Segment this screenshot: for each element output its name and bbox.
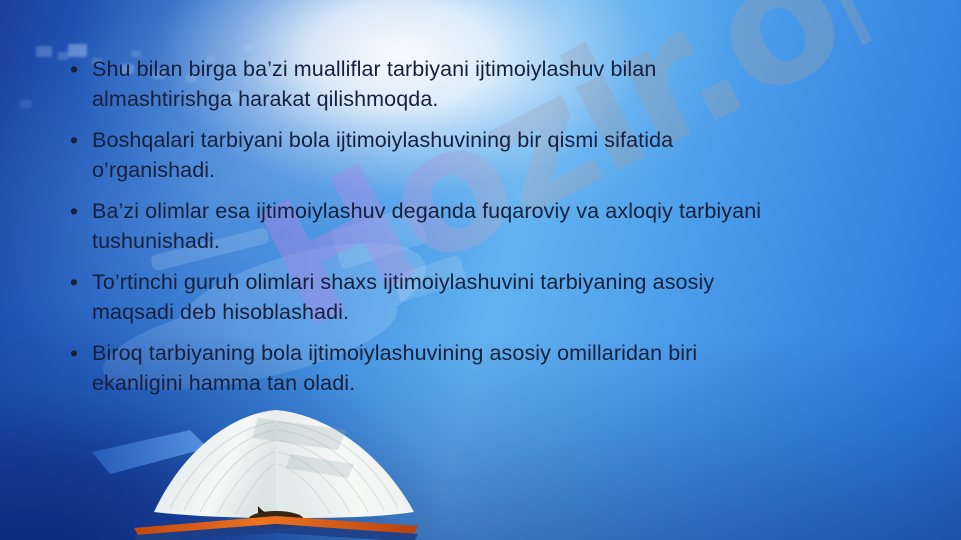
bullet-marker-icon: • [64, 267, 92, 297]
bullet-line: Ba’zi olimlar esa ijtimoiylashuv deganda… [92, 199, 761, 223]
bullet-line: o’rganishadi. [92, 158, 215, 182]
bullet-marker-icon: • [64, 125, 92, 155]
bullet-text: To’rtinchi guruh olimlari shaxs ijtimoiy… [92, 267, 904, 327]
bullet-line: maqsadi deb hisoblashadi. [92, 300, 349, 324]
open-book-illustration [62, 394, 492, 540]
bullet-text: Ba’zi olimlar esa ijtimoiylashuv deganda… [92, 196, 904, 256]
bullet-line: Boshqalari tarbiyani bola ijtimoiylashuv… [92, 128, 673, 152]
bullet-line: Biroq tarbiyaning bola ijtimoiylashuvini… [92, 341, 697, 365]
bullet-marker-icon: • [64, 196, 92, 226]
bullet-line: tushunishadi. [92, 229, 220, 253]
bullet-item: • Boshqalari tarbiyani bola ijtimoiylash… [64, 125, 904, 185]
bullet-item: • Biroq tarbiyaning bola ijtimoiylashuvi… [64, 338, 904, 398]
bullet-line: ekanligini hamma tan oladi. [92, 371, 355, 395]
bullet-item: • Ba’zi olimlar esa ijtimoiylashuv degan… [64, 196, 904, 256]
slide-body-content: • Shu bilan birga ba’zi mualliflar tarbi… [64, 54, 904, 409]
bullet-item: • Shu bilan birga ba’zi mualliflar tarbi… [64, 54, 904, 114]
presentation-slide: Hozir.org [0, 0, 961, 540]
bullet-line: To’rtinchi guruh olimlari shaxs ijtimoiy… [92, 270, 714, 294]
bullet-line: Shu bilan birga ba’zi mualliflar tarbiya… [92, 57, 656, 81]
bullet-marker-icon: • [64, 338, 92, 368]
bullet-line: almashtirishga harakat qilishmoqda. [92, 87, 438, 111]
bullet-text: Boshqalari tarbiyani bola ijtimoiylashuv… [92, 125, 904, 185]
bullet-text: Shu bilan birga ba’zi mualliflar tarbiya… [92, 54, 904, 114]
bullet-marker-icon: • [64, 54, 92, 84]
bullet-item: • To’rtinchi guruh olimlari shaxs ijtimo… [64, 267, 904, 327]
bullet-text: Biroq tarbiyaning bola ijtimoiylashuvini… [92, 338, 904, 398]
